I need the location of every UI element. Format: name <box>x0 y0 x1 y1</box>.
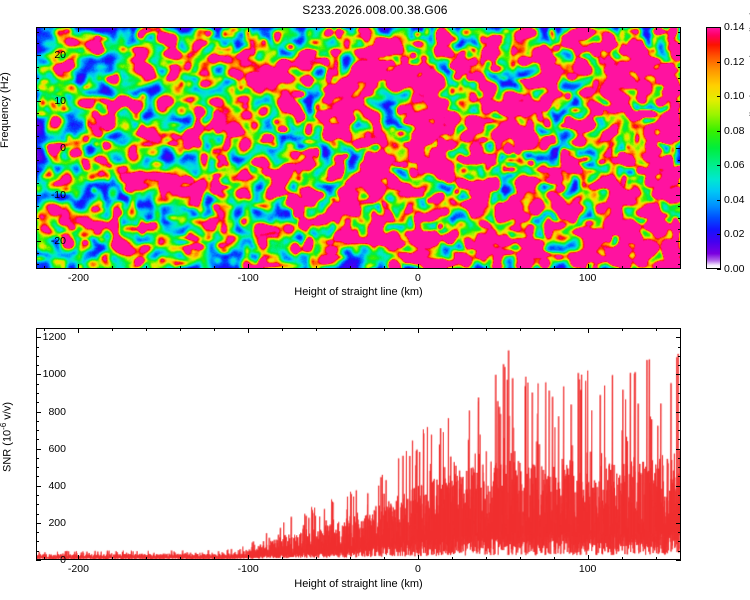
spectrogram-x-axis-label: Height of straight line (km) <box>36 286 681 298</box>
spectrogram-x-tick-mark <box>486 27 487 30</box>
spectrogram-x-tick-mark <box>554 27 555 30</box>
snr-y-tick-mark <box>36 356 39 357</box>
snr-y-tick-mark <box>678 384 681 385</box>
spectrogram-x-tick-label: -100 <box>238 272 259 284</box>
snr-y-tick-label: 200 <box>26 517 66 529</box>
snr-x-tick-label: -100 <box>238 563 259 575</box>
spectrogram-y-tick-mark <box>36 78 39 79</box>
snr-x-tick-label: 100 <box>579 563 597 575</box>
snr-x-tick-mark <box>316 557 317 560</box>
snr-y-tick-label: 1000 <box>26 368 66 380</box>
spectrogram-y-tick-label: -20 <box>26 235 66 247</box>
snr-x-tick-mark <box>588 328 589 333</box>
snr-y-tick-mark <box>678 495 681 496</box>
spectrogram-x-tick-mark <box>622 266 623 269</box>
snr-x-tick-mark <box>418 328 419 333</box>
page-title: S233.2026.008.00.38.G06 <box>0 3 750 17</box>
snr-y-tick-mark <box>678 347 681 348</box>
snr-y-tick-mark <box>36 532 39 533</box>
snr-y-label-suffix: v/v) <box>2 402 14 423</box>
spectrogram-x-tick-mark <box>112 266 113 269</box>
snr-x-tick-mark <box>486 557 487 560</box>
snr-y-tick-mark <box>36 523 41 524</box>
spectrogram-x-tick-mark <box>350 266 351 269</box>
spectrogram-y-tick-mark <box>676 101 681 102</box>
colorbar-tick-label: 0.00 <box>724 263 744 275</box>
spectrogram-x-tick-mark <box>282 27 283 30</box>
snr-x-tick-mark <box>78 555 79 560</box>
colorbar-tick-label: 0.14 <box>724 21 744 33</box>
snr-y-label-prefix: SNR (10 <box>2 430 14 472</box>
snr-y-tick-mark <box>676 412 681 413</box>
snr-x-tick-mark <box>44 328 45 331</box>
snr-y-tick-mark <box>36 560 41 561</box>
spectrogram-y-tick-mark <box>678 67 681 68</box>
snr-y-tick-mark <box>678 541 681 542</box>
spectrogram-y-tick-mark <box>36 183 39 184</box>
spectrogram-y-tick-mark <box>676 148 681 149</box>
spectrogram-y-axis-label: Frequency (Hz) <box>0 72 11 148</box>
spectrogram-x-tick-mark <box>452 27 453 30</box>
snr-y-tick-label: 0 <box>26 554 66 566</box>
colorbar-tick-mark <box>717 200 721 201</box>
snr-y-tick-mark <box>678 514 681 515</box>
spectrogram-y-tick-mark <box>36 101 41 102</box>
spectrogram-y-tick-mark <box>676 55 681 56</box>
snr-y-tick-mark <box>678 439 681 440</box>
colorbar-tick-mark <box>717 131 721 132</box>
colorbar-tick-mark <box>717 234 721 235</box>
snr-x-tick-mark <box>452 328 453 331</box>
snr-y-tick-mark <box>36 412 41 413</box>
snr-y-tick-mark <box>36 328 39 329</box>
snr-x-tick-mark <box>622 328 623 331</box>
spectrogram-y-tick-mark <box>36 195 41 196</box>
snr-y-tick-mark <box>36 495 39 496</box>
spectrogram-x-tick-mark <box>112 27 113 30</box>
spectrogram-x-tick-label: 0 <box>415 272 421 284</box>
snr-x-tick-mark <box>656 557 657 560</box>
snr-y-tick-mark <box>678 551 681 552</box>
colorbar-tick-label: 0.06 <box>724 159 744 171</box>
colorbar-tick-label: 0.08 <box>724 125 744 137</box>
snr-x-tick-mark <box>282 328 283 331</box>
spectrogram-y-tick-mark <box>36 171 39 172</box>
snr-y-tick-mark <box>678 393 681 394</box>
figure-root: S233.2026.008.00.38.G06 Frequency (Hz) -… <box>0 0 750 600</box>
snr-y-axis-label: SNR (10-6 v/v) <box>0 402 14 472</box>
spectrogram-y-tick-label: 10 <box>26 95 66 107</box>
snr-x-tick-mark <box>452 557 453 560</box>
snr-y-tick-label: 600 <box>26 443 66 455</box>
spectrogram-y-tick-mark <box>36 32 39 33</box>
spectrogram-x-tick-mark <box>520 266 521 269</box>
spectrogram-x-tick-mark <box>282 266 283 269</box>
spectrogram-y-tick-mark <box>678 264 681 265</box>
spectrogram-y-tick-mark <box>678 43 681 44</box>
snr-y-tick-mark <box>36 393 39 394</box>
spectrogram-y-tick-mark <box>678 229 681 230</box>
snr-y-tick-mark <box>678 458 681 459</box>
spectrogram-y-tick-mark <box>678 218 681 219</box>
spectrogram-plot-area <box>36 27 681 269</box>
colorbar-tick-label: 0.12 <box>724 56 744 68</box>
snr-y-tick-mark <box>36 384 39 385</box>
spectrogram-y-tick-mark <box>36 125 39 126</box>
spectrogram-x-tick-mark <box>384 27 385 30</box>
snr-y-tick-mark <box>36 486 41 487</box>
spectrogram-x-tick-mark <box>78 264 79 269</box>
colorbar-tick-mark <box>717 165 721 166</box>
spectrogram-x-tick-label: 100 <box>579 272 597 284</box>
spectrogram-y-tick-mark <box>36 218 39 219</box>
spectrogram-x-tick-label: -200 <box>68 272 89 284</box>
snr-y-tick-mark <box>678 532 681 533</box>
spectrogram-y-tick-mark <box>678 183 681 184</box>
snr-x-tick-label: 0 <box>415 563 421 575</box>
spectrogram-y-tick-label: -10 <box>26 189 66 201</box>
snr-x-tick-mark <box>486 328 487 331</box>
snr-x-tick-mark <box>418 555 419 560</box>
snr-x-tick-mark <box>214 557 215 560</box>
colorbar-tick-label: 0.04 <box>724 194 744 206</box>
colorbar-tick-mark <box>717 96 721 97</box>
spectrogram-x-tick-mark <box>588 27 589 32</box>
snr-y-tick-mark <box>676 337 681 338</box>
spectrogram-y-tick-mark <box>36 241 41 242</box>
snr-x-tick-mark <box>656 328 657 331</box>
snr-x-tick-mark <box>112 557 113 560</box>
snr-y-tick-mark <box>36 430 39 431</box>
spectrogram-image <box>37 28 680 268</box>
snr-x-tick-mark <box>554 557 555 560</box>
spectrogram-y-tick-label: 0 <box>26 142 66 154</box>
snr-trace <box>37 329 680 559</box>
snr-x-tick-mark <box>214 328 215 331</box>
spectrogram-x-tick-mark <box>180 266 181 269</box>
spectrogram-y-tick-mark <box>36 206 39 207</box>
spectrogram-y-tick-mark <box>36 136 39 137</box>
spectrogram-x-tick-mark <box>316 266 317 269</box>
spectrogram-y-tick-mark <box>678 171 681 172</box>
spectrogram-y-tick-mark <box>678 113 681 114</box>
snr-y-tick-mark <box>678 421 681 422</box>
snr-y-tick-mark <box>36 504 39 505</box>
spectrogram-y-tick-mark <box>36 253 39 254</box>
snr-x-tick-mark <box>384 557 385 560</box>
spectrogram-y-tick-mark <box>36 55 41 56</box>
colorbar-tick-mark <box>717 62 721 63</box>
spectrogram-y-tick-label: 20 <box>26 49 66 61</box>
spectrogram-x-tick-mark <box>452 266 453 269</box>
snr-y-tick-mark <box>678 504 681 505</box>
snr-x-tick-mark <box>350 328 351 331</box>
snr-x-tick-mark <box>146 328 147 331</box>
snr-y-tick-mark <box>36 514 39 515</box>
spectrogram-y-tick-mark <box>678 78 681 79</box>
snr-y-tick-mark <box>678 328 681 329</box>
colorbar-tick-mark <box>717 269 721 270</box>
snr-y-tick-mark <box>36 374 41 375</box>
spectrogram-y-tick-mark <box>36 67 39 68</box>
spectrogram-x-tick-mark <box>418 27 419 32</box>
spectrogram-y-tick-mark <box>678 160 681 161</box>
colorbar-tick-mark <box>717 27 721 28</box>
snr-y-tick-mark <box>676 449 681 450</box>
snr-y-tick-mark <box>36 439 39 440</box>
snr-x-tick-mark <box>282 557 283 560</box>
snr-x-tick-mark <box>44 557 45 560</box>
snr-x-tick-mark <box>622 557 623 560</box>
snr-y-tick-mark <box>36 402 39 403</box>
snr-y-tick-label: 1200 <box>26 331 66 343</box>
colorbar-tick-label: 0.02 <box>724 228 744 240</box>
snr-y-tick-mark <box>678 402 681 403</box>
snr-y-tick-mark <box>676 523 681 524</box>
spectrogram-y-tick-mark <box>36 43 39 44</box>
spectrogram-x-tick-mark <box>78 27 79 32</box>
snr-y-tick-mark <box>676 486 681 487</box>
spectrogram-x-tick-mark <box>588 264 589 269</box>
spectrogram-y-tick-mark <box>676 241 681 242</box>
snr-y-tick-mark <box>36 541 39 542</box>
spectrogram-x-tick-mark <box>554 266 555 269</box>
snr-x-axis-label: Height of straight line (km) <box>36 578 681 590</box>
snr-plot-area <box>36 328 681 560</box>
spectrogram-x-tick-mark <box>656 27 657 30</box>
snr-x-tick-mark <box>520 328 521 331</box>
snr-x-tick-mark <box>180 557 181 560</box>
spectrogram-y-tick-mark <box>676 195 681 196</box>
snr-y-tick-mark <box>678 476 681 477</box>
snr-y-tick-mark <box>36 449 41 450</box>
spectrogram-x-tick-mark <box>486 266 487 269</box>
snr-x-tick-mark <box>146 557 147 560</box>
spectrogram-x-tick-mark <box>622 27 623 30</box>
spectrogram-y-tick-mark <box>678 125 681 126</box>
spectrogram-x-tick-mark <box>214 266 215 269</box>
snr-y-tick-mark <box>36 421 39 422</box>
snr-y-tick-label: 800 <box>26 406 66 418</box>
spectrogram-x-tick-mark <box>520 27 521 30</box>
snr-y-tick-mark <box>36 365 39 366</box>
spectrogram-y-tick-mark <box>36 229 39 230</box>
snr-x-tick-mark <box>248 328 249 333</box>
spectrogram-y-tick-mark <box>36 160 39 161</box>
snr-y-label-exponent: -6 <box>0 423 8 430</box>
snr-x-tick-mark <box>350 557 351 560</box>
snr-x-tick-mark <box>520 557 521 560</box>
spectrogram-y-tick-mark <box>678 90 681 91</box>
spectrogram-x-tick-mark <box>146 266 147 269</box>
spectrogram-x-tick-mark <box>384 266 385 269</box>
spectrogram-x-tick-mark <box>656 266 657 269</box>
spectrogram-x-tick-mark <box>418 264 419 269</box>
snr-y-tick-mark <box>676 560 681 561</box>
spectrogram-y-tick-mark <box>36 113 39 114</box>
spectrogram-y-tick-mark <box>36 148 41 149</box>
spectrogram-y-tick-mark <box>678 253 681 254</box>
snr-x-tick-mark <box>384 328 385 331</box>
snr-y-tick-mark <box>36 347 39 348</box>
spectrogram-y-tick-mark <box>678 136 681 137</box>
snr-x-tick-mark <box>248 555 249 560</box>
colorbar-tick-label: 0.10 <box>724 90 744 102</box>
snr-x-tick-mark <box>112 328 113 331</box>
spectrogram-y-tick-mark <box>36 264 39 265</box>
snr-x-tick-label: -200 <box>68 563 89 575</box>
snr-y-tick-mark <box>678 467 681 468</box>
spectrogram-x-tick-mark <box>350 27 351 30</box>
snr-y-tick-mark <box>678 430 681 431</box>
snr-y-tick-mark <box>676 374 681 375</box>
spectrogram-x-tick-mark <box>248 27 249 32</box>
spectrogram-y-tick-mark <box>678 206 681 207</box>
snr-x-tick-mark <box>78 328 79 333</box>
snr-x-tick-mark <box>316 328 317 331</box>
snr-y-tick-mark <box>36 337 41 338</box>
snr-x-tick-mark <box>554 328 555 331</box>
colorbar <box>706 27 721 269</box>
snr-y-tick-mark <box>36 458 39 459</box>
snr-y-tick-mark <box>36 467 39 468</box>
snr-y-tick-mark <box>36 551 39 552</box>
spectrogram-x-tick-mark <box>44 266 45 269</box>
spectrogram-x-tick-mark <box>146 27 147 30</box>
spectrogram-x-tick-mark <box>180 27 181 30</box>
snr-x-tick-mark <box>588 555 589 560</box>
spectrogram-x-tick-mark <box>248 264 249 269</box>
spectrogram-y-tick-mark <box>678 32 681 33</box>
snr-y-tick-mark <box>678 365 681 366</box>
snr-y-tick-label: 400 <box>26 480 66 492</box>
snr-y-tick-mark <box>678 356 681 357</box>
snr-x-tick-mark <box>180 328 181 331</box>
snr-y-tick-mark <box>36 476 39 477</box>
spectrogram-x-tick-mark <box>214 27 215 30</box>
spectrogram-y-tick-mark <box>36 90 39 91</box>
spectrogram-x-tick-mark <box>316 27 317 30</box>
spectrogram-x-tick-mark <box>44 27 45 30</box>
